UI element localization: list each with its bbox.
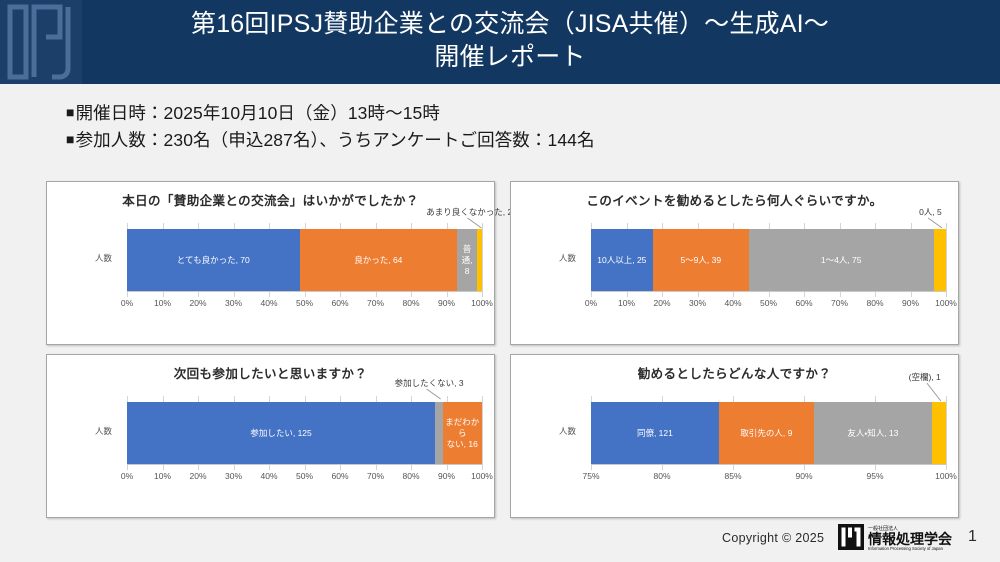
- x-axis-tick-label: 85%: [724, 471, 741, 481]
- bullet-text: 開催日時：2025年10月10日（金）13時～15時: [76, 103, 440, 123]
- x-axis-tick-label: 20%: [189, 471, 206, 481]
- chart-panel-recommend-count: このイベントを勧めるとしたら何人ぐらいですか。人数10人以上, 255～9人, …: [510, 181, 959, 345]
- chart-axis-line: [591, 291, 946, 292]
- bar-segment[interactable]: まだわから ない, 16: [443, 402, 482, 464]
- x-axis-tick-label: 95%: [866, 471, 883, 481]
- bar-segment-label: 取引先の人, 9: [739, 428, 793, 439]
- bar-segment[interactable]: [934, 229, 946, 291]
- bullet-text: 参加人数：230名（申込287名）、うちアンケートご回答数：144名: [76, 130, 595, 150]
- bar-segment[interactable]: [477, 229, 482, 291]
- bar-callout-label: (空欄), 1: [511, 371, 960, 383]
- x-axis-tick-label: 30%: [689, 298, 706, 308]
- x-axis-tick-label: 60%: [795, 298, 812, 308]
- chart-gridline: [946, 396, 947, 470]
- chart-gridline: [482, 223, 483, 297]
- chart-panel-join-again: 次回も参加したいと思いますか？人数参加したい, 125まだわから ない, 16参…: [46, 354, 495, 518]
- ipsj-watermark-logo: [0, 0, 82, 84]
- page-number: 1: [968, 528, 977, 546]
- stacked-bar: 同僚, 121取引先の人, 9友人・知人, 13: [591, 402, 946, 464]
- chart-panel-recommend-who: 勧めるとしたらどんな人ですか？人数同僚, 121取引先の人, 9友人・知人, 1…: [510, 354, 959, 518]
- x-axis-tick-label: 10%: [154, 298, 171, 308]
- bar-segment-label: とても良かった, 70: [176, 255, 251, 266]
- x-axis-tick-label: 75%: [582, 471, 599, 481]
- x-axis-tick-label: 100%: [935, 298, 957, 308]
- bar-segment-label: 友人・知人, 13: [846, 428, 899, 439]
- bar-segment-label: 参加したい, 125: [249, 428, 312, 439]
- x-axis-tick-label: 80%: [866, 298, 883, 308]
- bar-segment-label: 普通, 8: [457, 244, 477, 277]
- slide-header: 第16回IPSJ賛助企業との交流会（JISA共催）～生成AI～ 開催レポート: [0, 0, 1000, 84]
- x-axis-tick-label: 50%: [296, 298, 313, 308]
- x-axis-tick-label: 0%: [585, 298, 597, 308]
- x-axis-tick-label: 0%: [121, 471, 133, 481]
- x-axis-tick-label: 10%: [618, 298, 635, 308]
- bar-segment[interactable]: [932, 402, 946, 464]
- chart-plot-area: 同僚, 121取引先の人, 9友人・知人, 13: [591, 402, 946, 464]
- chart-x-axis: 0%10%20%30%40%50%60%70%80%90%100%: [127, 298, 482, 312]
- x-axis-tick-label: 40%: [260, 298, 277, 308]
- bar-segment-label: 10人以上, 25: [596, 255, 647, 266]
- bar-segment[interactable]: 普通, 8: [457, 229, 477, 291]
- x-axis-tick-label: 90%: [795, 471, 812, 481]
- copyright-text: Copyright © 2025: [722, 531, 824, 545]
- bar-segment-label: まだわから ない, 16: [443, 417, 482, 450]
- bar-segment[interactable]: 友人・知人, 13: [814, 402, 932, 464]
- chart-category-label: 人数: [559, 425, 576, 437]
- stacked-bar: 10人以上, 255～9人, 391～4人, 75: [591, 229, 946, 291]
- x-axis-tick-label: 80%: [402, 471, 419, 481]
- bar-segment[interactable]: 同僚, 121: [591, 402, 719, 464]
- bullet-marker-icon: ■: [66, 131, 75, 147]
- chart-category-label: 人数: [95, 252, 112, 264]
- chart-x-axis: 75%80%85%90%95%100%: [591, 471, 946, 485]
- chart-plot-area: 10人以上, 255～9人, 391～4人, 75: [591, 229, 946, 291]
- x-axis-tick-label: 70%: [831, 298, 848, 308]
- bar-segment-label: 良かった, 64: [353, 255, 403, 266]
- bar-callout-label: 0人, 5: [511, 206, 960, 218]
- stacked-bar: とても良かった, 70良かった, 64普通, 8: [127, 229, 482, 291]
- bar-segment[interactable]: 5～9人, 39: [653, 229, 749, 291]
- chart-x-axis: 0%10%20%30%40%50%60%70%80%90%100%: [591, 298, 946, 312]
- chart-axis-line: [591, 464, 946, 465]
- bar-segment[interactable]: 10人以上, 25: [591, 229, 653, 291]
- bar-callout-label: 参加したくない, 3: [47, 377, 496, 389]
- x-axis-tick-label: 30%: [225, 298, 242, 308]
- x-axis-tick-label: 80%: [653, 471, 670, 481]
- x-axis-tick-label: 70%: [367, 298, 384, 308]
- x-axis-tick-label: 0%: [121, 298, 133, 308]
- x-axis-tick-label: 90%: [902, 298, 919, 308]
- chart-axis-line: [127, 291, 482, 292]
- summary-bullets: ■開催日時：2025年10月10日（金）13時～15時 ■参加人数：230名（申…: [66, 99, 926, 153]
- bar-segment[interactable]: とても良かった, 70: [127, 229, 300, 291]
- chart-axis-line: [127, 464, 482, 465]
- chart-gridline: [946, 223, 947, 297]
- bar-segment-label: 5～9人, 39: [679, 255, 722, 266]
- bar-segment[interactable]: [435, 402, 442, 464]
- x-axis-tick-label: 50%: [296, 471, 313, 481]
- stacked-bar: 参加したい, 125まだわから ない, 16: [127, 402, 482, 464]
- chart-panel-satisfaction: 本日の「賛助企業との交流会」はいかがでしたか？人数とても良かった, 70良かった…: [46, 181, 495, 345]
- x-axis-tick-label: 100%: [471, 298, 493, 308]
- bar-segment[interactable]: 参加したい, 125: [127, 402, 435, 464]
- chart-plot-area: とても良かった, 70良かった, 64普通, 8: [127, 229, 482, 291]
- bar-segment-label: 1～4人, 75: [820, 255, 863, 266]
- page-title: 第16回IPSJ賛助企業との交流会（JISA共催）～生成AI～ 開催レポート: [110, 8, 910, 74]
- bar-segment-label: 同僚, 121: [636, 428, 674, 439]
- bullet-marker-icon: ■: [66, 104, 75, 120]
- x-axis-tick-label: 90%: [438, 471, 455, 481]
- x-axis-tick-label: 30%: [225, 471, 242, 481]
- x-axis-tick-label: 20%: [653, 298, 670, 308]
- bar-segment[interactable]: 良かった, 64: [300, 229, 458, 291]
- x-axis-tick-label: 100%: [935, 471, 957, 481]
- chart-plot-area: 参加したい, 125まだわから ない, 16: [127, 402, 482, 464]
- ipsj-footer-logo: 一般社団法人 情報処理学会 Information Processing Soc…: [838, 522, 956, 552]
- x-axis-tick-label: 40%: [724, 298, 741, 308]
- x-axis-tick-label: 80%: [402, 298, 419, 308]
- x-axis-tick-label: 60%: [331, 298, 348, 308]
- x-axis-tick-label: 20%: [189, 298, 206, 308]
- bullet-item: ■開催日時：2025年10月10日（金）13時～15時: [66, 99, 926, 126]
- chart-category-label: 人数: [95, 425, 112, 437]
- chart-gridline: [482, 396, 483, 470]
- bar-segment[interactable]: 1～4人, 75: [749, 229, 934, 291]
- bullet-item: ■参加人数：230名（申込287名）、うちアンケートご回答数：144名: [66, 126, 926, 153]
- x-axis-tick-label: 40%: [260, 471, 277, 481]
- svg-text:情報処理学会: 情報処理学会: [868, 531, 953, 547]
- x-axis-tick-label: 10%: [154, 471, 171, 481]
- bar-callout-label: あまり良くなかった, 2: [47, 206, 496, 218]
- chart-x-axis: 0%10%20%30%40%50%60%70%80%90%100%: [127, 471, 482, 485]
- x-axis-tick-label: 90%: [438, 298, 455, 308]
- chart-category-label: 人数: [559, 252, 576, 264]
- svg-text:Information Processing Society: Information Processing Society of Japan: [868, 546, 944, 551]
- x-axis-tick-label: 70%: [367, 471, 384, 481]
- x-axis-tick-label: 100%: [471, 471, 493, 481]
- bar-segment[interactable]: 取引先の人, 9: [719, 402, 814, 464]
- x-axis-tick-label: 60%: [331, 471, 348, 481]
- x-axis-tick-label: 50%: [760, 298, 777, 308]
